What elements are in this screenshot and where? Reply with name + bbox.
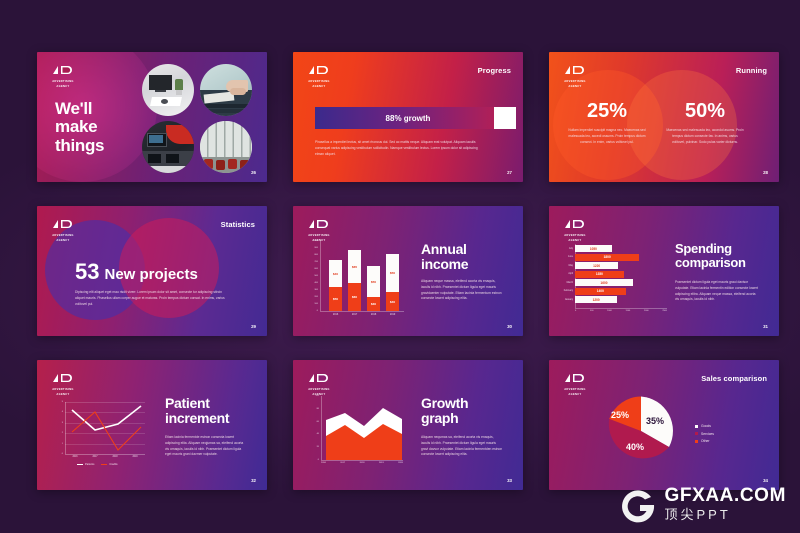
hbar-category: April	[568, 273, 573, 275]
photo-desk-1	[142, 64, 194, 116]
y-tick: 900	[314, 247, 318, 249]
pie-legend: Goods Services Other	[695, 424, 714, 443]
logo-line2: AGENCY	[50, 393, 76, 397]
watermark-subtitle: 顶尖PPT	[664, 507, 786, 523]
slide-sales-comparison[interactable]: ADVERTISING AGENCY Sales comparison 35% …	[549, 360, 779, 490]
legend-item[interactable]: Services	[695, 432, 714, 436]
legend-label: Patients	[85, 463, 94, 466]
y-tick: 20	[317, 446, 319, 448]
hbar[interactable]: January 1200	[575, 296, 617, 303]
logo-line1: ADVERTISING	[306, 80, 332, 84]
slide-eyebrow: Progress	[478, 66, 511, 75]
brand-logo: ADVERTISING AGENCY	[50, 63, 76, 89]
page-number: 27	[507, 170, 512, 175]
logo-line1: ADVERTISING	[562, 388, 588, 392]
legend-swatch-services	[695, 432, 698, 435]
slide-eyebrow: Running	[736, 66, 767, 75]
page-number: 26	[251, 170, 256, 175]
legend-label: Services	[701, 432, 714, 436]
slide-spending-comparison[interactable]: ADVERTISING AGENCY July 1050 June 1800 M…	[549, 206, 779, 336]
page-number: 34	[763, 478, 768, 483]
big-number: 53	[75, 259, 99, 285]
y-tick: 300	[314, 289, 318, 291]
page-number: 30	[507, 324, 512, 329]
photo-office-4	[200, 121, 252, 173]
logo-line1: ADVERTISING	[50, 80, 76, 84]
slide-grid: ADVERTISING AGENCY We'll make things	[37, 52, 779, 490]
column-chart: 1000 900 800 700 600 500 400 300 200 100…	[320, 241, 404, 311]
bar-value-lower: $30	[371, 302, 376, 306]
title-line-1: Spending	[675, 242, 746, 256]
progress-bar-label: 88% growth	[315, 107, 501, 129]
pie-chart[interactable]	[605, 395, 677, 467]
brand-logo: ADVERTISING AGENCY	[50, 217, 76, 243]
logo-line2: AGENCY	[50, 85, 76, 89]
page-number: 31	[763, 324, 768, 329]
y-tick: 5	[62, 401, 63, 403]
hbar-category: January	[565, 299, 573, 301]
slide-eyebrow: Sales comparison	[701, 374, 767, 383]
bar-value-upper: $40	[333, 272, 338, 276]
y-tick: 1	[62, 443, 63, 445]
y-tick: 0	[317, 310, 318, 312]
horizontal-bar-chart: July 1050 June 1800 May 1220 April 1350 …	[575, 244, 667, 308]
line-series-paths	[65, 402, 145, 454]
logo-line1: ADVERTISING	[562, 234, 588, 238]
y-tick: 80	[317, 408, 319, 410]
bar-value-lower: $60	[352, 295, 357, 299]
pie-label-services: 40%	[626, 442, 644, 452]
legend-label: Goods	[701, 424, 711, 428]
brand-logo: ADVERTISING AGENCY	[306, 63, 332, 89]
hbar-value: 1050	[590, 247, 597, 251]
body-text: Phasellus a imperdiet lectus, sit amet r…	[315, 140, 483, 157]
bar-value-lower: $40	[390, 300, 395, 304]
hbar[interactable]: February 1400	[575, 288, 626, 295]
legend-swatch-other	[695, 440, 698, 443]
big-number-caption: New projects	[104, 266, 197, 283]
title-line-1: We'll	[55, 100, 104, 118]
y-tick: 100	[314, 303, 318, 305]
gfxaa-logo-icon	[618, 485, 658, 525]
x-tick: 2016	[72, 456, 77, 458]
hbar-value: 1400	[597, 289, 604, 293]
logo-line2: AGENCY	[562, 239, 588, 243]
slide-running[interactable]: ADVERTISING AGENCY Running 25% Nullam im…	[549, 52, 779, 182]
stat-value-1: 25%	[571, 100, 643, 123]
legend-swatch-goods	[695, 425, 698, 428]
logo-line2: AGENCY	[306, 85, 332, 89]
x-tick: 2019	[379, 462, 384, 464]
bar-column[interactable]: $50 $40 2019	[386, 254, 399, 311]
hbar-value: 1220	[593, 264, 600, 268]
x-tick: 2016	[321, 462, 326, 464]
page-number: 33	[507, 478, 512, 483]
x-tick: 2017	[92, 456, 97, 458]
progress-bar-knob[interactable]	[494, 107, 516, 129]
page-number: 32	[251, 478, 256, 483]
hbar-value: 1600	[600, 281, 607, 285]
stat-value-2: 50%	[669, 100, 741, 123]
watermark-domain: GFXAA.COM	[664, 486, 786, 505]
y-tick: 2	[62, 432, 63, 434]
slide-annual-income[interactable]: ADVERTISING AGENCY 1000 900 800 700 600 …	[293, 206, 523, 336]
y-tick: 1000	[313, 240, 318, 242]
pie-label-other: 25%	[611, 410, 629, 420]
hbar[interactable]: April 1350	[575, 271, 624, 278]
slide-statistics[interactable]: ADVERTISING AGENCY Statistics 53 New pro…	[37, 206, 267, 336]
body-text: Praesentet dictum ligula eget mauris gra…	[675, 280, 759, 303]
hbar-category: July	[569, 248, 573, 250]
hbar-value: 1350	[596, 272, 603, 276]
logo-line1: ADVERTISING	[50, 234, 76, 238]
x-tick: 2018	[360, 462, 365, 464]
bar-column[interactable]: $65 $60 2017	[348, 250, 361, 311]
x-tick: 2017	[340, 462, 345, 464]
legend-item[interactable]: Patients	[77, 463, 94, 466]
logo-line1: ADVERTISING	[306, 234, 332, 238]
x-tick: 2019	[132, 456, 137, 458]
progress-bar-fill: 88% growth	[315, 107, 501, 129]
y-tick: 60	[317, 421, 319, 423]
slide-well-make-things[interactable]: ADVERTISING AGENCY We'll make things	[37, 52, 267, 182]
logo-line1: ADVERTISING	[562, 80, 588, 84]
stat-body-2: Maecenas sed malesuada leo, acondol asum…	[666, 128, 744, 145]
y-tick: 4	[62, 411, 63, 413]
page-number: 29	[251, 324, 256, 329]
legend-item[interactable]: Goods	[695, 424, 714, 428]
legend-swatch-credits	[101, 464, 107, 465]
legend-swatch-patients	[77, 464, 83, 465]
y-tick: 700	[314, 261, 318, 263]
x-tick: 2020	[398, 462, 403, 464]
logo-line2: AGENCY	[50, 239, 76, 243]
x-tick: 2018	[371, 313, 376, 316]
body-text: Aliquam neque massa, eleifend acorta vis…	[421, 279, 503, 302]
logo-line1: ADVERTISING	[306, 388, 332, 392]
hbar-category: June	[568, 256, 573, 258]
slide-patient-increment[interactable]: ADVERTISING AGENCY 5 4 3 2 1 0 2016 2017	[37, 360, 267, 490]
photo-workspace-3	[142, 121, 194, 173]
title-line-1: Annual	[421, 242, 468, 257]
pie-label-goods: 35%	[646, 416, 664, 426]
venn-circle-right	[627, 70, 737, 180]
title-line-2: graph	[421, 411, 468, 426]
hbar-value: 1800	[604, 255, 611, 259]
progress-bar-widget[interactable]: 88% growth	[315, 107, 501, 129]
brand-logo: ADVERTISING AGENCY	[562, 63, 588, 89]
y-tick: 3	[62, 422, 63, 424]
logo-line1: ADVERTISING	[50, 388, 76, 392]
legend-label: Credits	[109, 463, 117, 466]
photo-hands-2	[200, 64, 252, 116]
title-line-2: increment	[165, 411, 229, 426]
x-tick: 2019	[390, 313, 395, 316]
hbar[interactable]: July 1050	[575, 245, 612, 252]
hbar-category: May	[569, 265, 573, 267]
brand-logo: ADVERTISING AGENCY	[306, 217, 332, 243]
body-text: Dipiscing elit aliquet eget mau risdit v…	[75, 290, 230, 307]
area-series-paths	[321, 396, 403, 460]
x-tick: 2018	[112, 456, 117, 458]
y-tick: 0	[318, 459, 319, 461]
hbar-value: 1200	[593, 298, 600, 302]
title-line-1: Growth	[421, 396, 468, 411]
y-tick: 40	[317, 433, 319, 435]
bar-column[interactable]: $50 $30 2018	[367, 266, 380, 311]
legend-item[interactable]: Credits	[101, 463, 117, 466]
y-tick: 200	[314, 296, 318, 298]
page-number: 28	[763, 170, 768, 175]
y-tick: 800	[314, 254, 318, 256]
hbar-category: February	[564, 290, 573, 292]
bar-value-upper: $50	[390, 271, 395, 275]
bar-column[interactable]: $40 $50 2016	[329, 260, 342, 311]
brand-logo: ADVERTISING AGENCY	[306, 371, 332, 397]
line-chart: 5 4 3 2 1 0 2016 2017 2018 2019	[65, 402, 145, 454]
body-text: Etiam lacinia fermentde estnon consecta …	[165, 435, 247, 458]
brand-logo: ADVERTISING AGENCY	[562, 371, 588, 397]
watermark: GFXAA.COM 顶尖PPT	[618, 485, 786, 525]
title-line-2: income	[421, 257, 468, 272]
title-line-3: things	[55, 137, 104, 155]
y-tick: 500	[314, 275, 318, 277]
y-tick: 100	[315, 395, 319, 397]
title-line-1: Patient	[165, 396, 229, 411]
slide-eyebrow: Statistics	[221, 220, 255, 229]
bar-value-upper: $50	[371, 280, 376, 284]
title-line-2: comparison	[675, 256, 746, 270]
legend-item[interactable]: Other	[695, 439, 714, 443]
brand-logo: ADVERTISING AGENCY	[562, 217, 588, 243]
stat-body-1: Nullam imperdiet suscipit magna nec. Mae…	[568, 128, 646, 145]
x-tick: 2500	[662, 310, 667, 312]
x-tick: 1000	[607, 310, 612, 312]
x-tick: 2016	[333, 313, 338, 316]
bar-value-lower: $50	[333, 297, 338, 301]
area-chart: 100 80 60 40 20 0 2016 2017 2018 2019 20…	[321, 396, 403, 460]
y-tick: 400	[314, 282, 318, 284]
body-text: Aliquam nequmas sa, eleifend acorta vis …	[421, 435, 503, 458]
y-tick: 600	[314, 268, 318, 270]
bar-value-upper: $65	[352, 265, 357, 269]
legend-label: Other	[701, 439, 709, 443]
slide-progress[interactable]: ADVERTISING AGENCY Progress 88% growth P…	[293, 52, 523, 182]
x-tick: 0	[575, 310, 576, 312]
hbar-category: March	[567, 282, 573, 284]
hbar[interactable]: March 1600	[575, 279, 633, 286]
chart-legend: Patients Credits	[77, 463, 118, 466]
hbar[interactable]: May 1220	[575, 262, 618, 269]
x-tick: 2000	[644, 310, 649, 312]
x-tick: 2017	[352, 313, 357, 316]
logo-line2: AGENCY	[562, 393, 588, 397]
y-tick: 0	[62, 453, 63, 455]
slide-growth-graph[interactable]: ADVERTISING AGENCY 100 80 60 40 20 0 201…	[293, 360, 523, 490]
logo-line2: AGENCY	[562, 85, 588, 89]
brand-logo: ADVERTISING AGENCY	[50, 371, 76, 397]
hbar[interactable]: June 1800	[575, 254, 639, 261]
title-line-2: make	[55, 118, 104, 136]
x-tick: 1500	[626, 310, 631, 312]
x-tick: 500	[590, 310, 593, 312]
